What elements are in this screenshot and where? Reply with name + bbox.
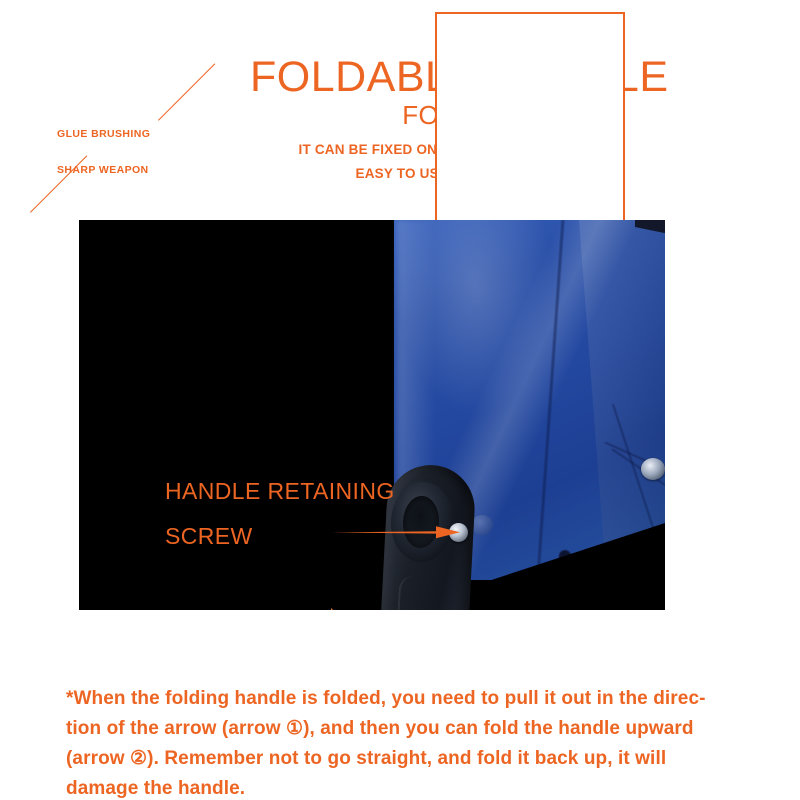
product-photo: HANDLE RETAINING SCREW ② ① <box>79 220 665 610</box>
label-glue-brushing: GLUE BRUSHING <box>57 128 150 140</box>
machine-bolt <box>641 458 665 480</box>
caption-text: *When the folding handle is folded, you … <box>66 684 766 800</box>
bracket-frame-mask <box>437 30 623 208</box>
annotation-screw-label-line-2: SCREW <box>165 523 253 550</box>
caption-line-3: (arrow ②). Remember not to go straight, … <box>66 744 766 774</box>
caption-line-4: damage the handle. <box>66 774 766 800</box>
caption-line-1: *When the folding handle is folded, you … <box>66 684 766 714</box>
caption-line-2: tion of the arrow (arrow ①), and then yo… <box>66 714 766 744</box>
screw-pointer-arrow-icon <box>332 525 460 539</box>
infographic-page: FOLDABLE HANDLE FOLDING CRANK IT CAN BE … <box>0 0 800 800</box>
machine-dimple <box>471 515 493 535</box>
fold-up-curved-arrow-icon <box>251 598 373 610</box>
diagonal-rule-top <box>158 63 215 120</box>
annotation-screw-label-line-1: HANDLE RETAINING <box>165 478 395 505</box>
